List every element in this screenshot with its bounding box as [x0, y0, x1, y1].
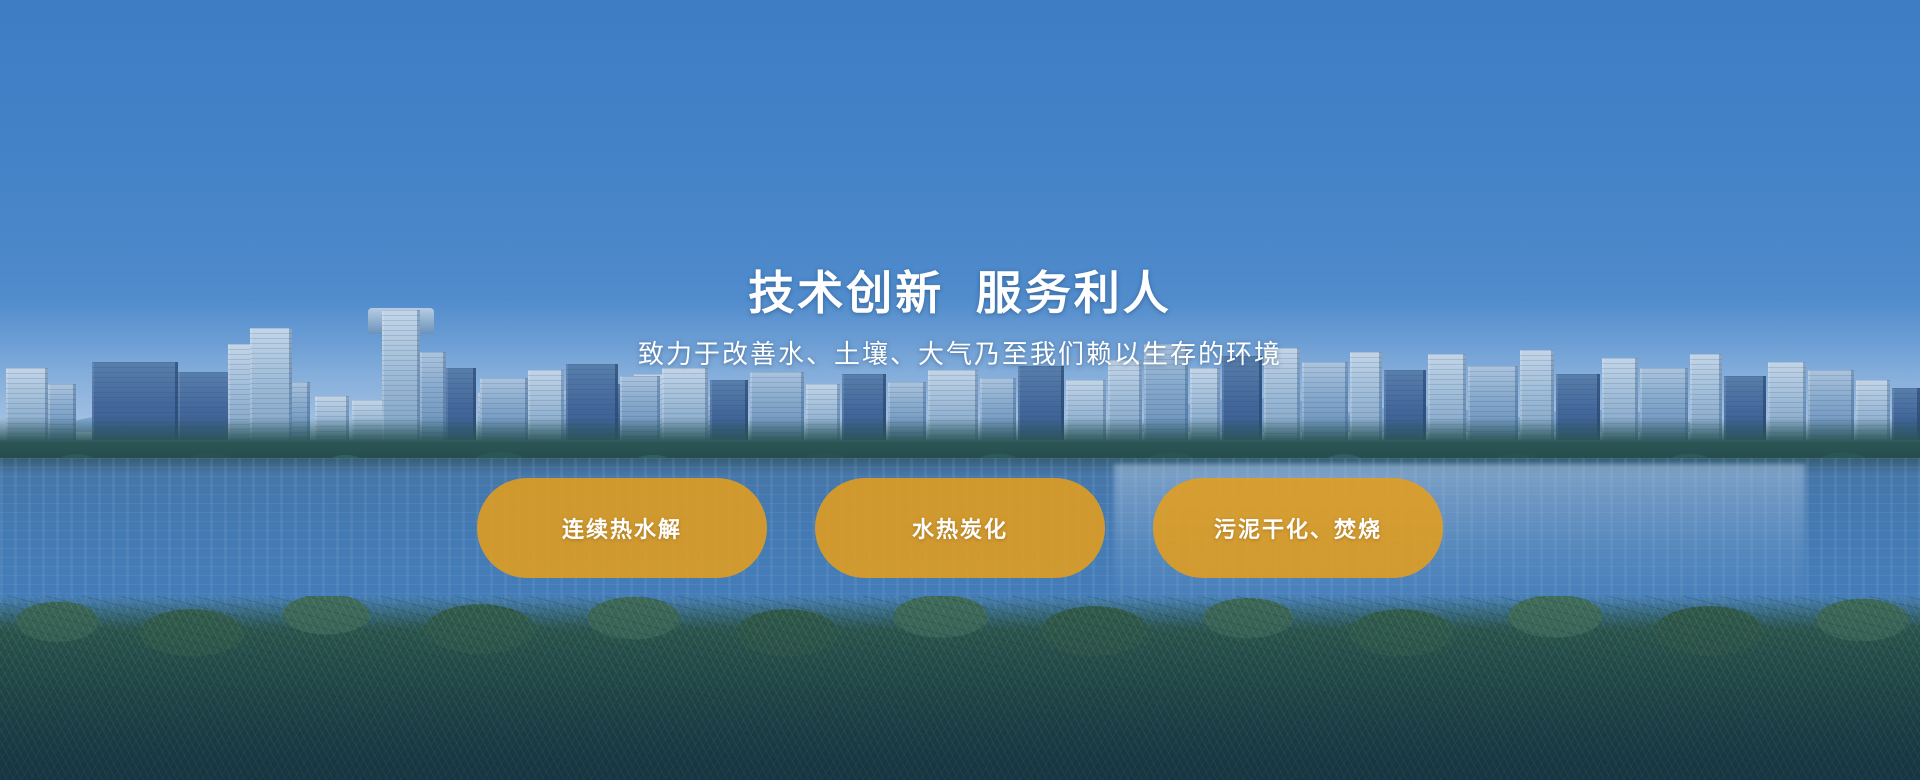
service-button-label: 连续热水解 — [562, 512, 682, 544]
service-button-hydrothermal-carbonization[interactable]: 水热炭化 — [815, 478, 1105, 578]
foreground-vegetation — [0, 596, 1920, 780]
service-button-row: 连续热水解 水热炭化 污泥干化、焚烧 — [0, 478, 1920, 578]
service-button-label: 污泥干化、焚烧 — [1214, 512, 1382, 544]
service-button-label: 水热炭化 — [912, 512, 1008, 544]
service-button-sludge-drying-incineration[interactable]: 污泥干化、焚烧 — [1153, 478, 1443, 578]
hero-banner: 技术创新 服务利人 致力于改善水、土壤、大气乃至我们赖以生存的环境 连续热水解 … — [0, 0, 1920, 780]
service-button-continuous-thermal-hydrolysis[interactable]: 连续热水解 — [477, 478, 767, 578]
